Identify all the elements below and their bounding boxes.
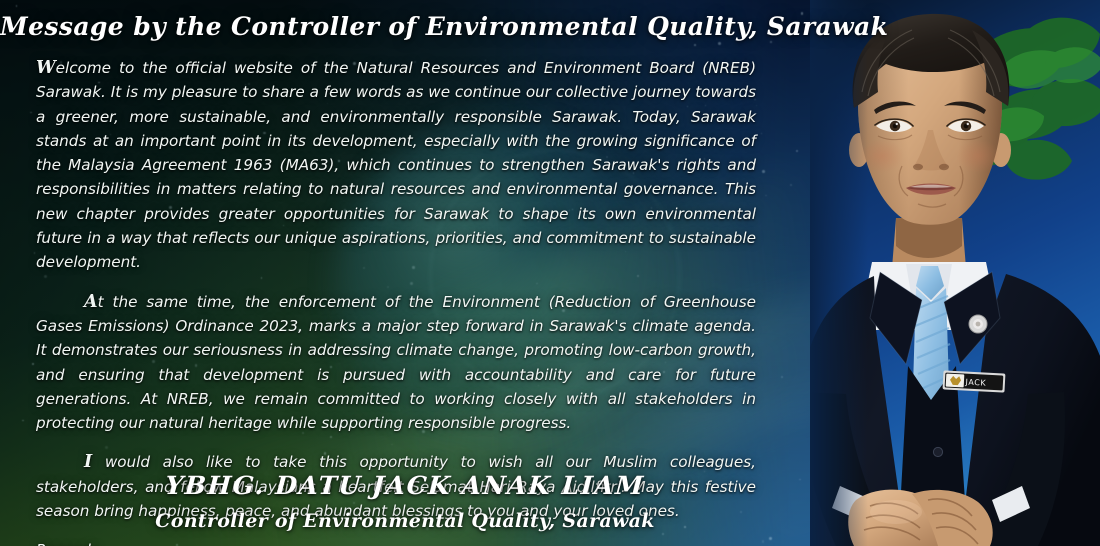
paragraph-dropcap: A <box>84 292 98 312</box>
paragraph-dropcap: W <box>36 58 56 78</box>
signature-role: Controller of Environmental Quality, Sar… <box>0 510 810 532</box>
page-title: Message by the Controller of Environment… <box>0 12 810 41</box>
controller-message-banner: JACK <box>0 0 1100 546</box>
message-paragraph-1: Welcome to the official website of the N… <box>36 56 756 275</box>
signature-block: YBHG. DATU JACK ANAK LIAM Controller of … <box>0 471 810 532</box>
closing-salutation: Regards, <box>36 538 756 546</box>
signature-name: YBHG. DATU JACK ANAK LIAM <box>0 471 811 500</box>
paragraph-text: t the same time, the enforcement of the … <box>36 293 756 432</box>
message-content: Message by the Controller of Environment… <box>0 0 1100 546</box>
message-paragraph-2: At the same time, the enforcement of the… <box>36 290 756 436</box>
paragraph-text: elcome to the official website of the Na… <box>36 59 756 271</box>
paragraph-dropcap: I <box>84 452 92 472</box>
